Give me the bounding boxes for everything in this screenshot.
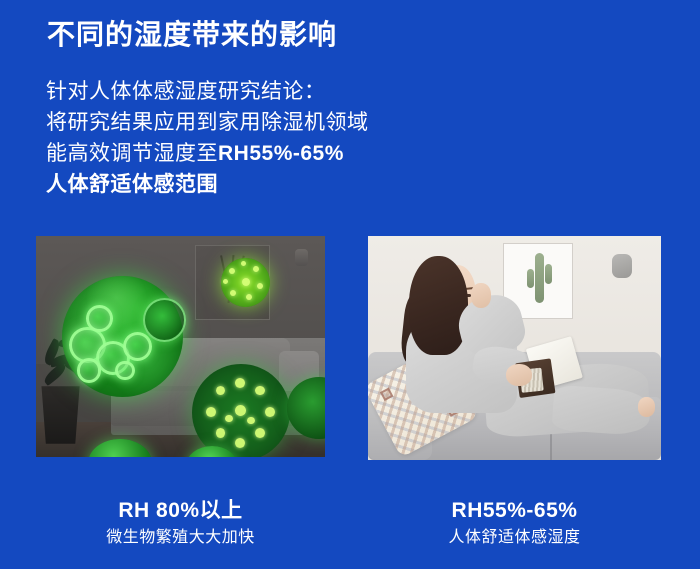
hand-at-face: [471, 283, 492, 308]
body-line-2: 将研究结果应用到家用除湿机领域: [46, 107, 369, 138]
microbe-spike-icon: [223, 279, 228, 284]
microbe-spike-icon: [246, 294, 252, 300]
person-reading: [368, 236, 661, 460]
foot: [638, 397, 656, 417]
hand-holding-book: [506, 364, 532, 386]
microbe-spike-icon: [235, 438, 245, 448]
microbe-spike-icon: [247, 417, 255, 425]
microbe-spike-icon: [216, 386, 226, 396]
microbe-cell-icon: [123, 332, 152, 361]
caption-title: RH55%-65%: [368, 497, 661, 525]
body-copy: 针对人体体感湿度研究结论： 将研究结果应用到家用除湿机领域 能高效调节湿度至RH…: [46, 76, 369, 200]
photo-high-humidity: [36, 236, 325, 457]
microbe-spike-icon: [257, 283, 263, 289]
scene-dim-living-room: [36, 236, 325, 457]
page-title: 不同的湿度带来的影响: [47, 17, 337, 52]
caption-title: RH 80%以上: [36, 497, 325, 525]
scene-bright-living-room: [368, 236, 661, 460]
photo-comfort-humidity: [368, 236, 661, 460]
caption-high-humidity: RH 80%以上 微生物繁殖大大加快: [36, 497, 325, 551]
microbe-spike-icon: [206, 407, 216, 417]
microbe-cell-icon: [86, 305, 113, 332]
body-line-3: 能高效调节湿度至RH55%-65%: [46, 138, 369, 169]
microbe-spiky-icon: [221, 258, 270, 307]
microbe-spike-icon: [265, 407, 275, 417]
wall-speaker-icon: [295, 249, 308, 266]
microbe-spike-icon: [235, 378, 245, 388]
microbe-spike-icon: [255, 428, 265, 438]
body-line-1: 针对人体体感湿度研究结论：: [46, 76, 369, 107]
microbe-spike-icon: [216, 428, 226, 438]
microbe-spike-icon: [230, 290, 236, 296]
microbe-low-icon: [192, 364, 290, 457]
poster-root: 不同的湿度带来的影响 针对人体体感湿度研究结论： 将研究结果应用到家用除湿机领域…: [0, 0, 700, 569]
caption-subtitle: 人体舒适体感湿度: [368, 525, 661, 551]
microbe-spike-icon: [241, 261, 246, 266]
caption-comfort-humidity: RH55%-65% 人体舒适体感湿度: [368, 497, 661, 551]
microbe-core-icon: [242, 278, 251, 287]
microbe-cell-icon: [77, 358, 101, 382]
body-line-4: 人体舒适体感范围: [46, 169, 369, 200]
caption-subtitle: 微生物繁殖大大加快: [36, 525, 325, 551]
microbe-spike-icon: [255, 386, 265, 396]
plant-pot: [39, 386, 82, 443]
humidity-range-highlight: RH55%-65%: [218, 142, 344, 165]
body-line-3-prefix: 能高效调节湿度至: [46, 142, 218, 165]
microbe-spike-icon: [253, 266, 259, 272]
microbe-cell-icon: [115, 361, 134, 380]
microbe-core-icon: [235, 405, 246, 416]
microbe-side-icon: [143, 298, 186, 342]
microbe-spike-icon: [225, 415, 233, 423]
microbe-spike-icon: [229, 268, 235, 274]
hair: [409, 256, 468, 355]
